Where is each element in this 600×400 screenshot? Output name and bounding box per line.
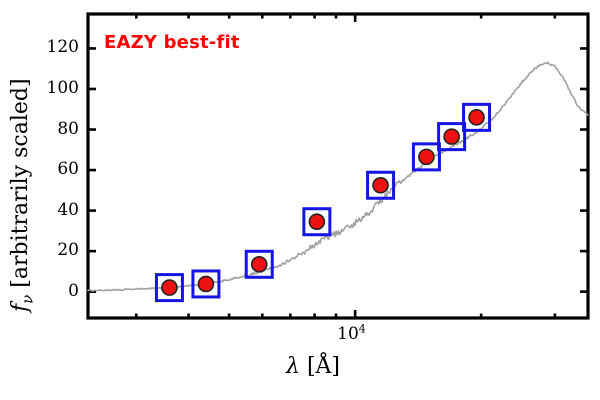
photometry-point [464, 104, 490, 130]
y-tick-label: 20 [57, 240, 79, 260]
x-axis-label-symbol: λ [286, 354, 300, 379]
photometry-point [193, 271, 219, 297]
photometry-markers [156, 104, 489, 300]
x-axis-label: λ [Å] [286, 354, 340, 379]
y-tick-label: 80 [57, 119, 79, 139]
y-tick-label: 0 [68, 281, 79, 301]
y-tick-label: 120 [47, 37, 79, 57]
photometry-point [368, 172, 394, 198]
x-tick-label: 104 [337, 324, 366, 344]
spectral-energy-distribution-plot [0, 0, 600, 400]
y-axis-label: fν [arbitrarily scaled] [8, 78, 33, 312]
y-tick-label: 100 [47, 78, 79, 98]
eazy-best-fit-annotation: EAZY best-fit [104, 32, 240, 53]
x-axis-label-unit: [Å] [307, 354, 340, 379]
axes-frame [88, 14, 588, 318]
y-axis-label-unit: [arbitrarily scaled] [8, 78, 33, 287]
axis-ticks [88, 14, 588, 318]
y-axis-label-symbol: f [8, 304, 33, 312]
y-tick-label: 60 [57, 159, 79, 179]
y-axis-label-subscript: ν [18, 295, 36, 304]
photometry-point [304, 209, 330, 235]
best-fit-spectrum-line [88, 62, 588, 291]
photometry-point [413, 144, 439, 170]
y-tick-label: 40 [57, 200, 79, 220]
figure-canvas: EAZY best-fit 020406080100120 104 λ [Å] … [0, 0, 600, 400]
photometry-point [246, 251, 272, 277]
